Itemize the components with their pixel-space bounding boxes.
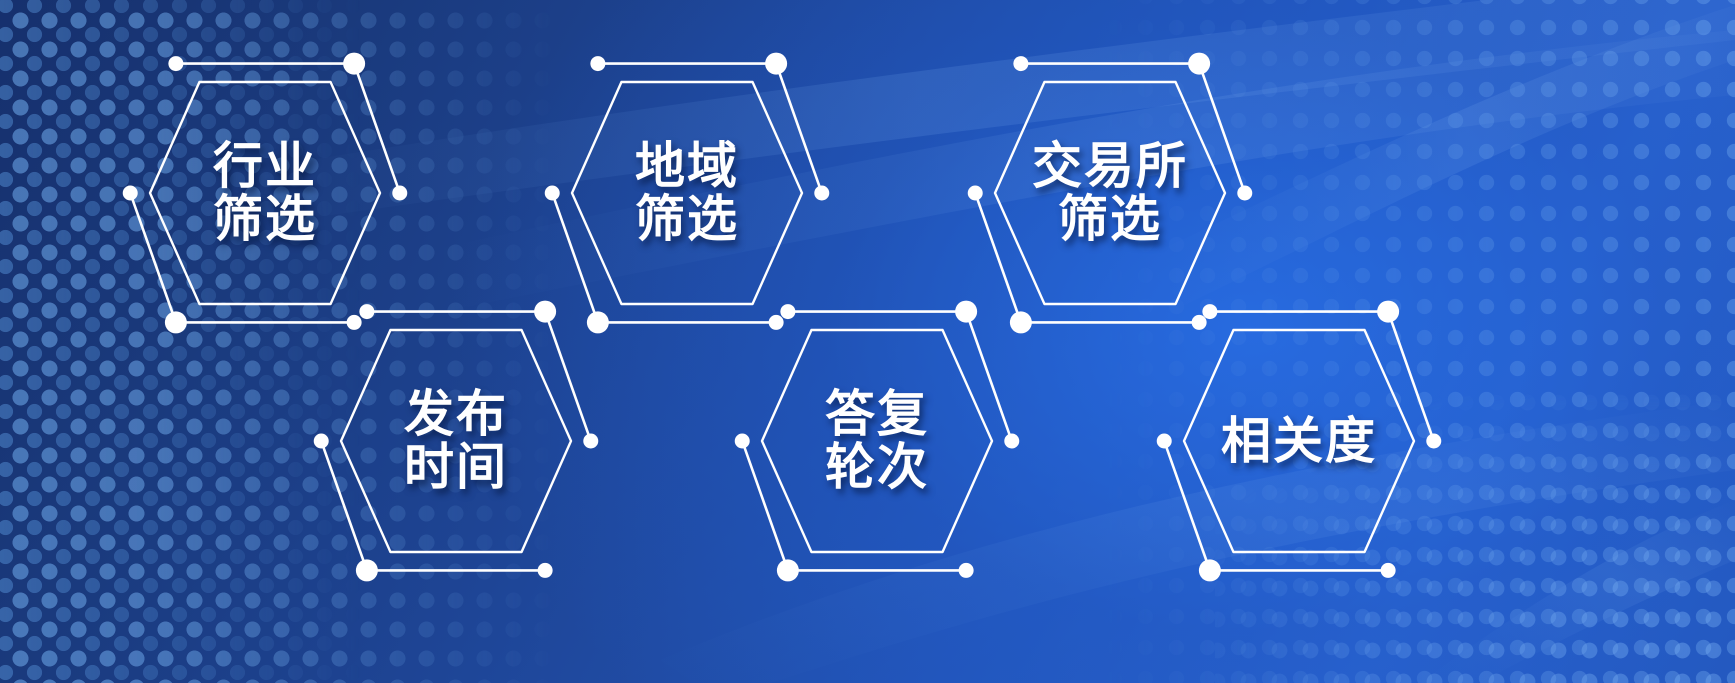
hexagon-lower-left-edge xyxy=(321,441,367,570)
hexagon-dot-right xyxy=(583,434,598,449)
hexagon-dot-bottom-left xyxy=(356,559,378,581)
banner-canvas: 行业筛选地域筛选交易所筛选发布时间答复轮次相关度 xyxy=(0,0,1735,683)
hexagon-dot-top-left xyxy=(359,304,374,319)
hexagon-dot-top-right xyxy=(1377,301,1399,323)
hexagon-inner-ring xyxy=(572,82,802,304)
hexagon-lower-left-edge xyxy=(130,193,176,322)
hexagon-dot-left xyxy=(314,434,329,449)
hexagon-dot-right xyxy=(392,186,407,201)
hexagon-dot-right xyxy=(1426,434,1441,449)
hexagon-inner-ring xyxy=(995,82,1225,304)
hexagon-upper-right-edge xyxy=(966,312,1012,441)
hexagon-dot-bottom-right xyxy=(959,563,974,578)
hexagon-dot-top-right xyxy=(765,53,787,75)
hexagon-dot-top-left xyxy=(1013,56,1028,71)
hexagon-outline xyxy=(1138,284,1460,598)
hexagon-dot-top-left xyxy=(1202,304,1217,319)
hexagon-upper-right-edge xyxy=(776,64,822,193)
hexagon-upper-right-edge xyxy=(1199,64,1245,193)
hexagon-dot-left xyxy=(545,186,560,201)
hexagon-upper-right-edge xyxy=(1388,312,1434,441)
hexagon-dot-left xyxy=(1157,434,1172,449)
hexagon-dot-top-right xyxy=(955,301,977,323)
hexagon-inner-ring xyxy=(341,330,571,552)
hexagon-inner-ring xyxy=(1184,330,1414,552)
hexagon-upper-right-edge xyxy=(354,64,400,193)
hex-reply-rounds[interactable]: 答复轮次 xyxy=(716,284,1038,598)
hexagon-dot-top-right xyxy=(343,53,365,75)
hexagon-dot-right xyxy=(1004,434,1019,449)
hexagon-dot-left xyxy=(735,434,750,449)
hexagon-dot-bottom-left xyxy=(165,311,187,333)
hexagon-lower-left-edge xyxy=(742,441,788,570)
hexagon-dot-top-left xyxy=(168,56,183,71)
hexagon-dot-bottom-right xyxy=(1381,563,1396,578)
hexagon-dot-top-left xyxy=(590,56,605,71)
hexagon-dot-left xyxy=(123,186,138,201)
hexagon-dot-top-right xyxy=(534,301,556,323)
hexagon-dot-left xyxy=(968,186,983,201)
hexagon-lower-left-edge xyxy=(1164,441,1210,570)
hexagon-dot-right xyxy=(1237,186,1252,201)
hex-publish-time[interactable]: 发布时间 xyxy=(295,284,617,598)
hexagon-dot-top-right xyxy=(1188,53,1210,75)
hexagon-outline xyxy=(295,284,617,598)
hexagon-inner-ring xyxy=(150,82,380,304)
hexagon-dot-bottom-left xyxy=(777,559,799,581)
hexagon-upper-right-edge xyxy=(545,312,591,441)
hexagon-dot-bottom-right xyxy=(538,563,553,578)
hexagon-dot-right xyxy=(814,186,829,201)
hexagon-inner-ring xyxy=(762,330,992,552)
hex-relevance[interactable]: 相关度 xyxy=(1138,284,1460,598)
hexagon-dot-top-left xyxy=(780,304,795,319)
hexagon-dot-bottom-left xyxy=(1199,559,1221,581)
hexagon-outline xyxy=(716,284,1038,598)
